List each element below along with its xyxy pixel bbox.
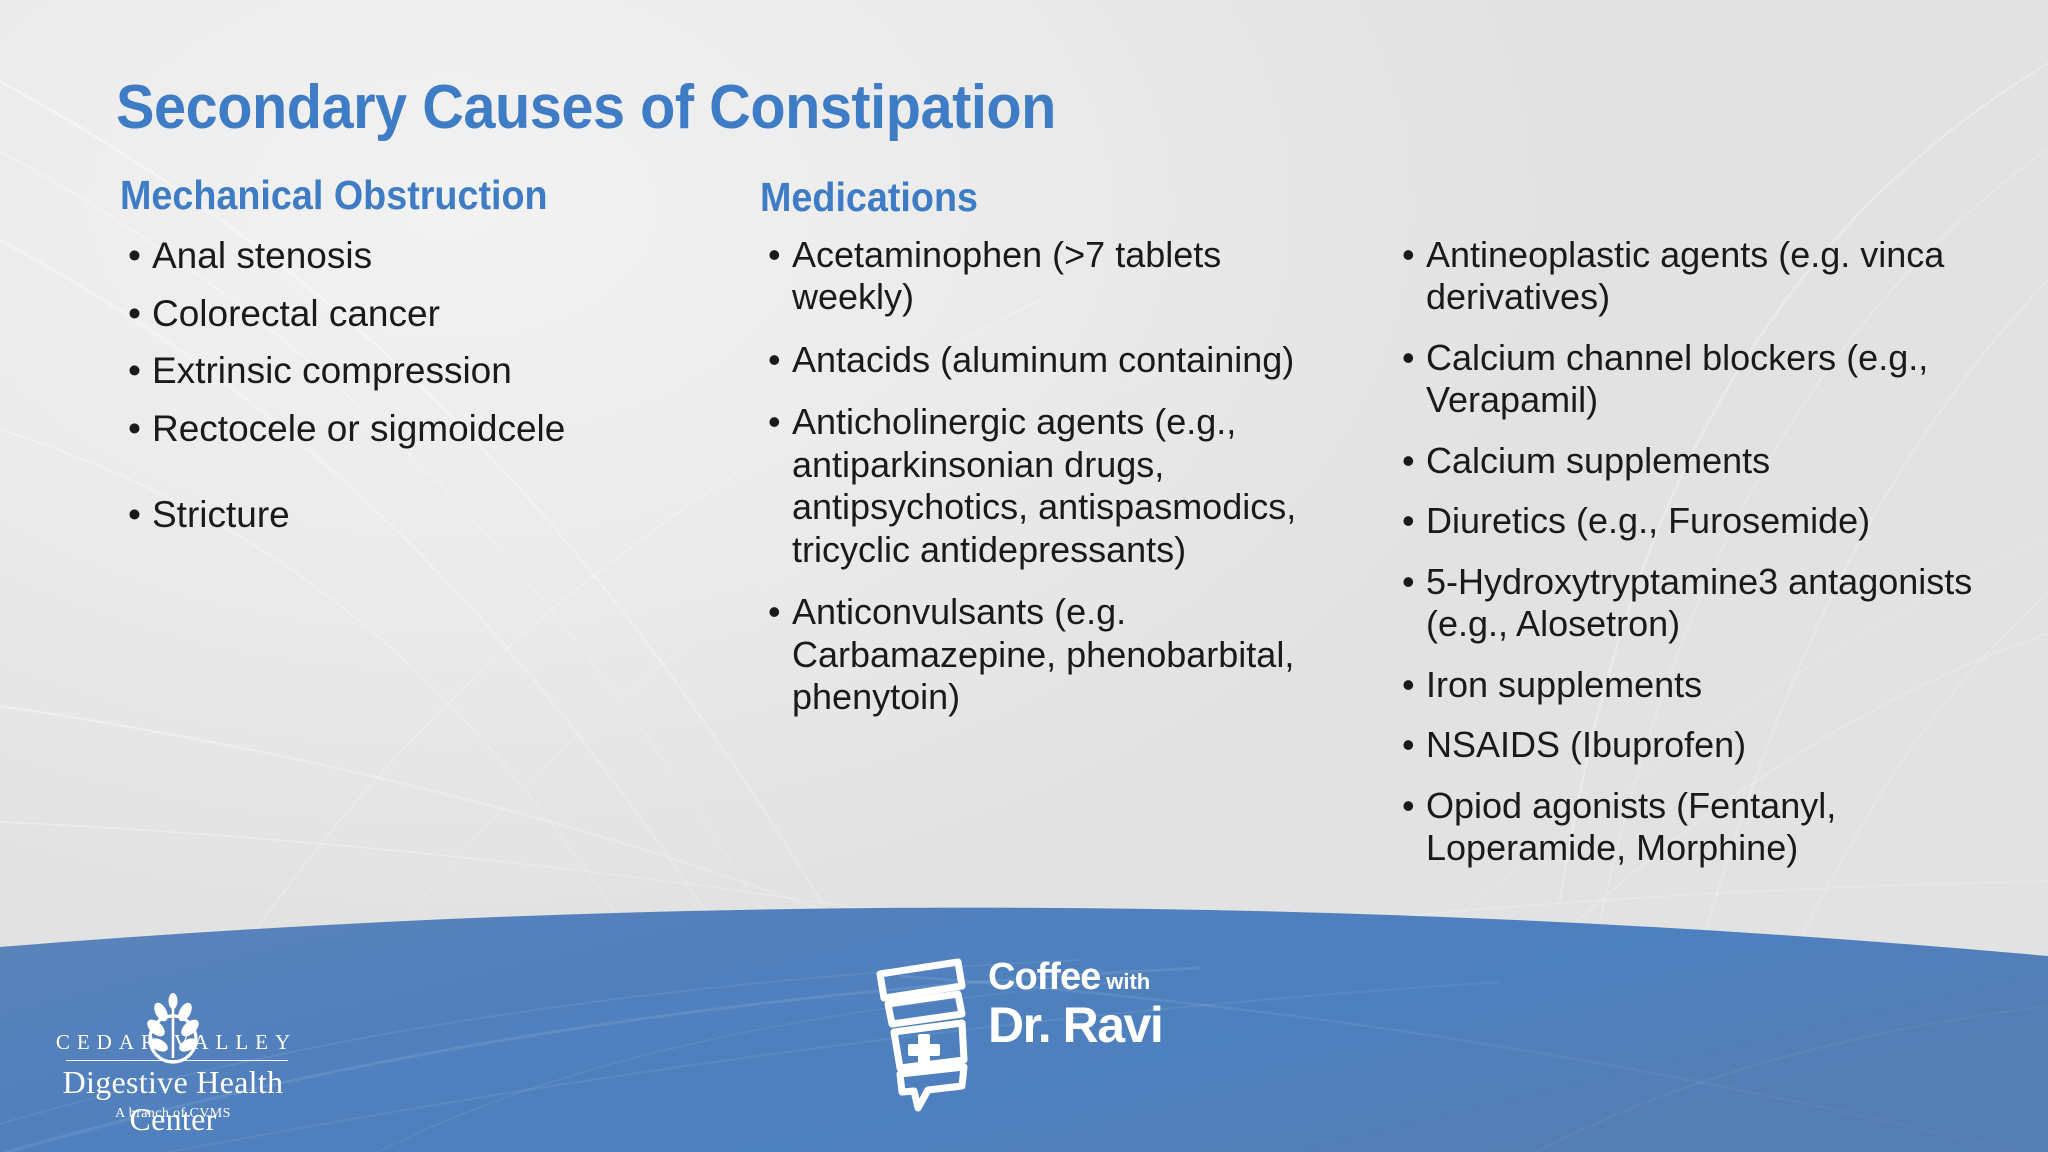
slide: Secondary Causes of Constipation Mechani… — [0, 0, 2048, 1152]
list-item: Anticholinergic agents (e.g., antiparkin… — [762, 401, 1332, 571]
slide-title: Secondary Causes of Constipation — [116, 72, 1056, 143]
list-item: Acetaminophen (>7 tablets weekly) — [762, 234, 1332, 319]
list-item: 5-Hydroxytryptamine3 antagonists (e.g., … — [1396, 561, 1996, 646]
list-item: Diuretics (e.g., Furosemide) — [1396, 500, 1996, 542]
list-item: Antineoplastic agents (e.g. vinca deriva… — [1396, 234, 1996, 319]
list-item: Antacids (aluminum containing) — [762, 339, 1332, 381]
clinic-logo-line3: A branch of CVMS — [18, 1106, 328, 1122]
list-mechanical-obstruction: Anal stenosis Colorectal cancer Extrinsi… — [122, 234, 722, 550]
clinic-logo-line1: CEDAR VALLEY — [18, 1030, 328, 1055]
list-item: Calcium supplements — [1396, 440, 1996, 482]
list-item: Opiod agonists (Fentanyl, Loperamide, Mo… — [1396, 785, 1996, 870]
show-logo-text: Coffeewith Dr. Ravi — [988, 958, 1162, 1051]
clinic-logo: CEDAR VALLEY Digestive Health Center A b… — [18, 994, 328, 1134]
list-item: Rectocele or sigmoidcele — [122, 407, 722, 451]
list-item: Iron supplements — [1396, 664, 1996, 706]
show-logo-line2: Dr. Ravi — [988, 1000, 1162, 1051]
show-logo: Coffeewith Dr. Ravi — [866, 952, 1226, 1112]
show-logo-line1-main: Coffee — [988, 956, 1100, 998]
coffee-cup-speech-bubble-icon — [866, 952, 976, 1112]
list-item: Stricture — [122, 493, 722, 537]
list-medications-part-1: Acetaminophen (>7 tablets weekly) Antaci… — [762, 234, 1332, 739]
list-item: Anal stenosis — [122, 234, 722, 278]
show-logo-line1-suffix: with — [1106, 969, 1150, 994]
list-medications-part-2: Antineoplastic agents (e.g. vinca deriva… — [1396, 234, 1996, 888]
section-heading-mechanical-obstruction: Mechanical Obstruction — [120, 172, 548, 219]
list-item: Extrinsic compression — [122, 349, 722, 393]
section-heading-medications: Medications — [760, 174, 978, 221]
list-item: NSAIDS (Ibuprofen) — [1396, 724, 1996, 766]
list-item-spacer — [122, 465, 722, 479]
list-item: Anticonvulsants (e.g. Carbamazepine, phe… — [762, 591, 1332, 718]
clinic-logo-line2: Digestive Health Center — [18, 1064, 328, 1138]
clinic-logo-rule — [66, 1060, 288, 1061]
list-item: Colorectal cancer — [122, 292, 722, 336]
list-item: Calcium channel blockers (e.g., Verapami… — [1396, 337, 1996, 422]
show-logo-line1: Coffeewith — [988, 958, 1162, 996]
